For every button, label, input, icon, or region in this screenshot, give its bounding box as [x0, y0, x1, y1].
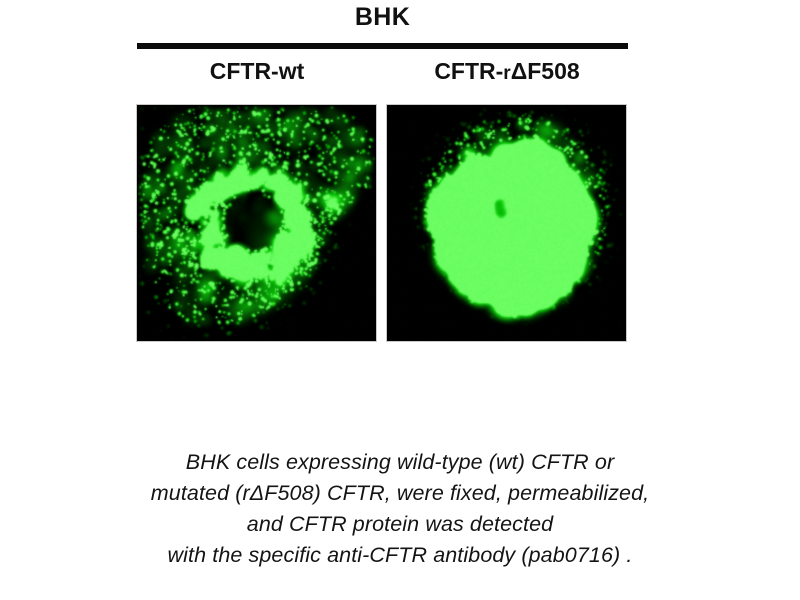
micrograph-panel-cftr-rdf508 [386, 104, 627, 342]
panel-label-small-r: r [503, 63, 510, 84]
caption-line-3: and CFTR protein was detected [0, 509, 800, 540]
caption-line-1: BHK cells expressing wild-type (wt) CFTR… [0, 447, 800, 478]
figure-root: BHK CFTR-wt CFTR-rΔF508 BHK cells expres… [0, 0, 800, 600]
panel-label-prefix: CFTR- [434, 58, 503, 84]
micrograph-image-cftr-wt [137, 105, 376, 341]
micrograph-image-cftr-rdf508 [387, 105, 626, 341]
panel-label-suffix: ΔF508 [511, 58, 580, 84]
micrograph-strip [136, 104, 628, 342]
group-title: BHK [137, 2, 628, 32]
panel-label-row: CFTR-wt CFTR-rΔF508 [136, 56, 628, 88]
micrograph-panel-cftr-wt [136, 104, 377, 342]
caption-line-2: mutated (rΔF508) CFTR, were fixed, perme… [0, 478, 800, 509]
figure-caption: BHK cells expressing wild-type (wt) CFTR… [0, 447, 800, 571]
panel-label-cftr-rdf508: CFTR-rΔF508 [386, 56, 628, 89]
group-divider-rule [137, 43, 628, 49]
panel-label-cftr-wt: CFTR-wt [136, 56, 378, 86]
caption-line-4: with the specific anti-CFTR antibody (pa… [0, 540, 800, 571]
